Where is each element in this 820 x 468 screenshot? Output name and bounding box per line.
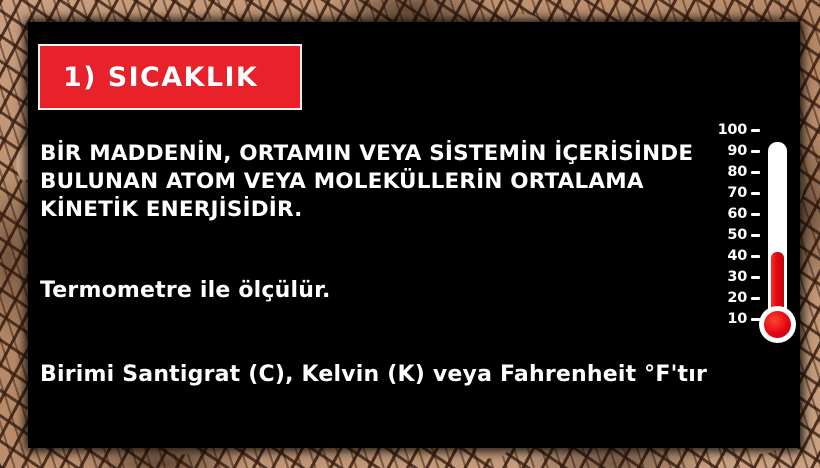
slide-title: 1) SICAKLIK: [40, 62, 258, 93]
unit-paragraph: Birimi Santigrat (C), Kelvin (K) veya Fa…: [40, 360, 720, 390]
tick-dash-icon: [751, 129, 760, 132]
scale-tick-100: 100: [718, 122, 760, 138]
definition-line-2: BULUNAN ATOM VEYA MOLEKÜLLERİN ORTALAMA: [40, 168, 720, 196]
scale-tick-50: 50: [727, 227, 760, 243]
scale-tick-60: 60: [727, 206, 760, 222]
tick-dash-icon: [751, 150, 760, 153]
tick-dash-icon: [751, 213, 760, 216]
scale-label-90: 90: [727, 144, 747, 159]
body-copy: BİR MADDENİN, ORTAMIN VEYA SİSTEMİN İÇER…: [40, 140, 720, 390]
scale-tick-10: 10: [727, 311, 760, 327]
scale-label-70: 70: [727, 186, 747, 201]
scale-tick-40: 40: [727, 248, 760, 264]
scale-tick-80: 80: [727, 164, 760, 180]
content-panel: 1) SICAKLIK BİR MADDENİN, ORTAMIN VEYA S…: [28, 22, 800, 448]
definition-line-1: BİR MADDENİN, ORTAMIN VEYA SİSTEMİN İÇER…: [40, 140, 720, 168]
slide: 1) SICAKLIK BİR MADDENİN, ORTAMIN VEYA S…: [0, 0, 820, 468]
thermometer-icon: 100 90 80 70 60: [716, 122, 792, 342]
scale-label-50: 50: [727, 228, 747, 243]
definition-line-3: KİNETİK ENERJİSİDİR.: [40, 196, 720, 224]
title-banner: 1) SICAKLIK: [38, 44, 302, 110]
scale-label-40: 40: [727, 249, 747, 264]
thermometer-scale: 100 90 80 70 60: [716, 122, 760, 312]
scale-tick-70: 70: [727, 185, 760, 201]
scale-label-20: 20: [727, 291, 747, 306]
tick-dash-icon: [751, 276, 760, 279]
tick-dash-icon: [751, 255, 760, 258]
thermometer-bulb: [764, 311, 791, 338]
tick-dash-icon: [751, 171, 760, 174]
scale-tick-30: 30: [727, 269, 760, 285]
scale-label-80: 80: [727, 165, 747, 180]
definition-paragraph: BİR MADDENİN, ORTAMIN VEYA SİSTEMİN İÇER…: [40, 140, 720, 224]
scale-tick-20: 20: [727, 290, 760, 306]
scale-tick-90: 90: [727, 143, 760, 159]
paragraph-spacer: [40, 328, 720, 360]
paragraph-spacer: [40, 246, 720, 276]
tick-dash-icon: [751, 234, 760, 237]
scale-label-10: 10: [727, 312, 747, 327]
scale-label-100: 100: [718, 123, 747, 138]
scale-label-60: 60: [727, 207, 747, 222]
unit-line-1: Birimi Santigrat (C), Kelvin (K) veya Fa…: [40, 360, 720, 390]
measurement-paragraph: Termometre ile ölçülür.: [40, 276, 720, 306]
tick-dash-icon: [751, 192, 760, 195]
scale-label-30: 30: [727, 270, 747, 285]
measurement-line-1: Termometre ile ölçülür.: [40, 276, 720, 306]
tick-dash-icon: [751, 297, 760, 300]
